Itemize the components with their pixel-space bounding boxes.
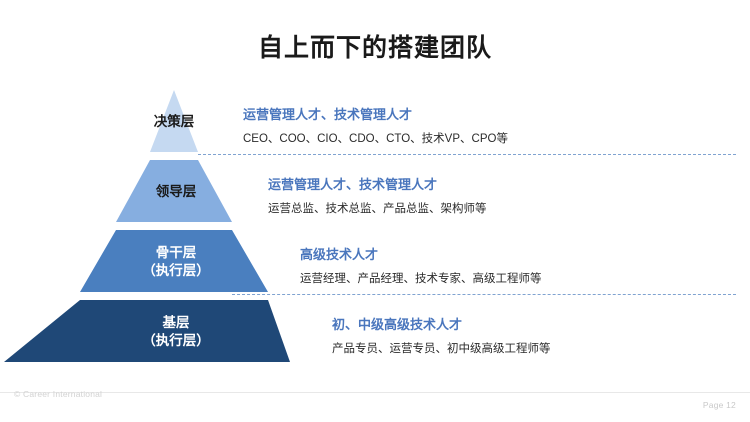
pyramid-tier-1[interactable]: 决策层 运营管理人才、技术管理人才 CEO、COO、CIO、CDO、CTO、技术…: [0, 88, 750, 156]
tier-2-description: 运营管理人才、技术管理人才 运营总监、技术总监、产品总监、架构师等: [268, 166, 487, 224]
pyramid-tier-4[interactable]: 基层 （执行层） 初、中级高级技术人才 产品专员、运营专员、初中级高级工程师等: [0, 298, 750, 366]
page-number: Page 12: [703, 400, 736, 410]
footer-divider: [0, 392, 750, 393]
tier-1-description: 运营管理人才、技术管理人才 CEO、COO、CIO、CDO、CTO、技术VP、C…: [243, 96, 508, 154]
tier-4-description: 初、中级高级技术人才 产品专员、运营专员、初中级高级工程师等: [332, 306, 551, 364]
pyramid-diagram: 决策层 运营管理人才、技术管理人才 CEO、COO、CIO、CDO、CTO、技术…: [0, 88, 750, 373]
tier-2-detail: 运营总监、技术总监、产品总监、架构师等: [268, 200, 487, 216]
tier-4-detail: 产品专员、运营专员、初中级高级工程师等: [332, 340, 551, 356]
page-title: 自上而下的搭建团队: [0, 28, 750, 64]
tier-3-shape: [0, 228, 320, 296]
tier-4-heading: 初、中级高级技术人才: [332, 314, 551, 333]
tier-1-heading: 运营管理人才、技术管理人才: [243, 104, 508, 123]
tier-4-shape: [0, 298, 320, 366]
tier-2-heading: 运营管理人才、技术管理人才: [268, 174, 487, 193]
tier-3-description: 高级技术人才 运营经理、产品经理、技术专家、高级工程师等: [300, 236, 542, 294]
pyramid-tier-2[interactable]: 领导层 运营管理人才、技术管理人才 运营总监、技术总监、产品总监、架构师等: [0, 158, 750, 226]
tier-3-heading: 高级技术人才: [300, 244, 542, 263]
tier-1-detail: CEO、COO、CIO、CDO、CTO、技术VP、CPO等: [243, 130, 508, 146]
tier-3-detail: 运营经理、产品经理、技术专家、高级工程师等: [300, 270, 542, 286]
copyright-label: © Career International: [14, 389, 102, 399]
pyramid-tier-3[interactable]: 骨干层 （执行层） 高级技术人才 运营经理、产品经理、技术专家、高级工程师等: [0, 228, 750, 296]
slide-canvas: 自上而下的搭建团队 决策层 运营管理人才、技术管理人才 CEO、COO、CIO、…: [0, 0, 750, 422]
tier-1-separator: [198, 154, 736, 155]
